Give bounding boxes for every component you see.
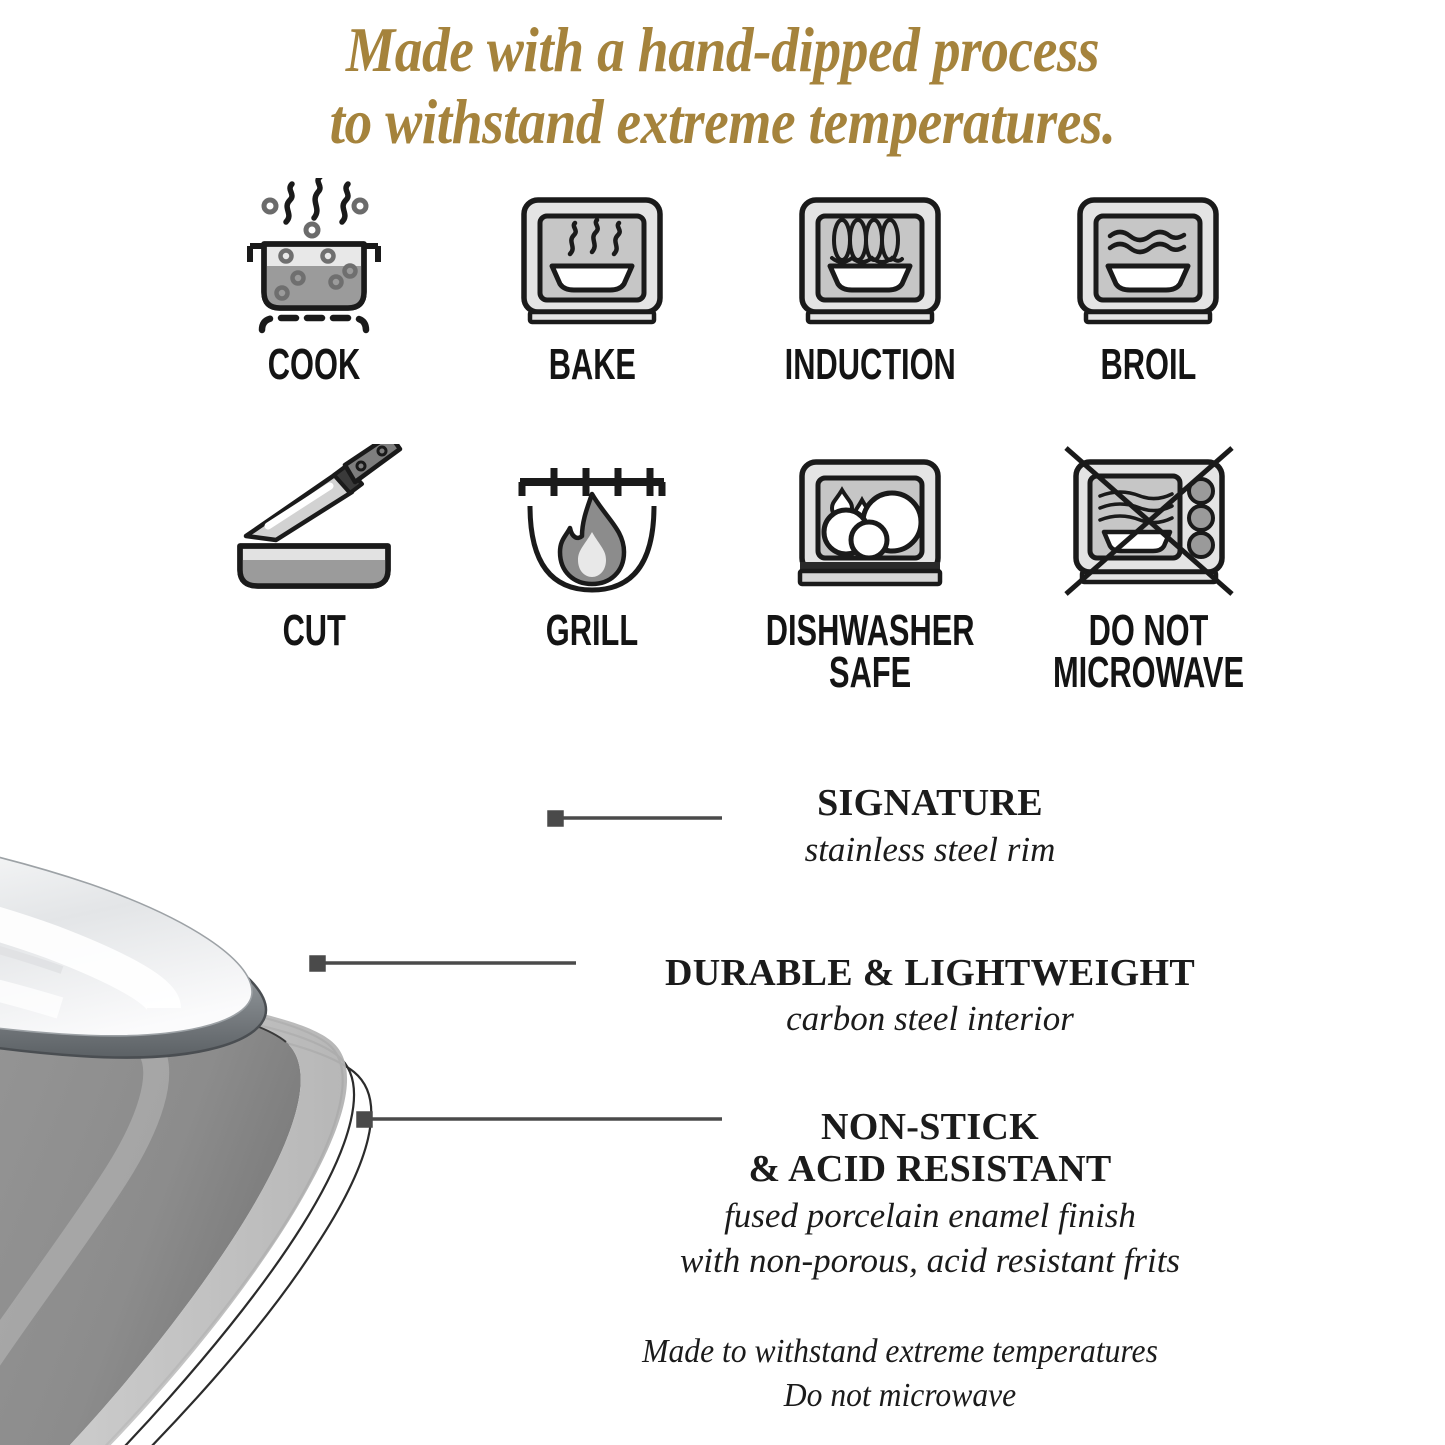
footer-line-1: Made to withstand extreme temperatures bbox=[547, 1330, 1254, 1374]
dishwasher-dishes-icon bbox=[780, 444, 960, 604]
pot-boiling-icon bbox=[224, 178, 404, 338]
callout-signature-title: SIGNATURE bbox=[560, 782, 1300, 825]
icon-cell-broil: BROIL bbox=[1009, 178, 1287, 386]
oven-broil-icon bbox=[1058, 178, 1238, 338]
icon-label-no-microwave: DO NOT MICROWAVE bbox=[1052, 610, 1243, 694]
feature-callouts: SIGNATURE stainless steel rim DURABLE & … bbox=[560, 782, 1300, 1281]
icon-label-broil: BROIL bbox=[1100, 344, 1196, 386]
callout-signature: SIGNATURE stainless steel rim bbox=[560, 782, 1300, 870]
callout-durable-sub: carbon steel interior bbox=[560, 998, 1300, 1039]
headline-line-2: to withstand extreme temperatures. bbox=[87, 86, 1359, 158]
icon-label-induction: INDUCTION bbox=[784, 344, 955, 386]
knife-dish-icon bbox=[224, 444, 404, 604]
callout-non-stick-title-line-2: & ACID RESISTANT bbox=[560, 1148, 1300, 1191]
oven-induction-icon bbox=[780, 178, 960, 338]
callout-durable-title: DURABLE & LIGHTWEIGHT bbox=[560, 952, 1300, 995]
page-title: Made with a hand-dipped process to withs… bbox=[87, 14, 1359, 159]
microwave-crossed-icon bbox=[1058, 444, 1238, 604]
callout-non-stick-title-line-1: NON-STICK bbox=[560, 1106, 1300, 1149]
icon-cell-no-microwave: DO NOT MICROWAVE bbox=[1009, 444, 1287, 694]
icon-cell-induction: INDUCTION bbox=[731, 178, 1009, 386]
icon-label-bake: BAKE bbox=[548, 344, 635, 386]
oven-bake-icon bbox=[502, 178, 682, 338]
product-feature-infographic: Made with a hand-dipped process to withs… bbox=[0, 0, 1445, 1445]
icon-row-1: COOK BA bbox=[175, 178, 1290, 386]
footer-line-2: Do not microwave bbox=[547, 1374, 1254, 1418]
pot-cutaway-illustration bbox=[0, 612, 580, 1445]
icon-label-dishwasher: DISHWASHER SAFE bbox=[766, 610, 975, 694]
callout-signature-sub: stainless steel rim bbox=[560, 829, 1300, 870]
callout-non-stick-sub-line-1: fused porcelain enamel finish bbox=[560, 1195, 1300, 1236]
headline-line-1: Made with a hand-dipped process bbox=[346, 15, 1099, 85]
icon-cell-dishwasher: DISHWASHER SAFE bbox=[731, 444, 1009, 694]
icon-cell-bake: BAKE bbox=[453, 178, 731, 386]
callout-durable: DURABLE & LIGHTWEIGHT carbon steel inter… bbox=[560, 952, 1300, 1040]
callout-non-stick: NON-STICK & ACID RESISTANT fused porcela… bbox=[560, 1106, 1300, 1282]
callout-non-stick-sub-line-2: with non-porous, acid resistant frits bbox=[560, 1240, 1300, 1281]
footer-note: Made to withstand extreme temperatures D… bbox=[547, 1330, 1254, 1418]
grill-flame-icon bbox=[502, 444, 682, 604]
icon-cell-cook: COOK bbox=[175, 178, 453, 386]
icon-label-cook: COOK bbox=[268, 344, 360, 386]
